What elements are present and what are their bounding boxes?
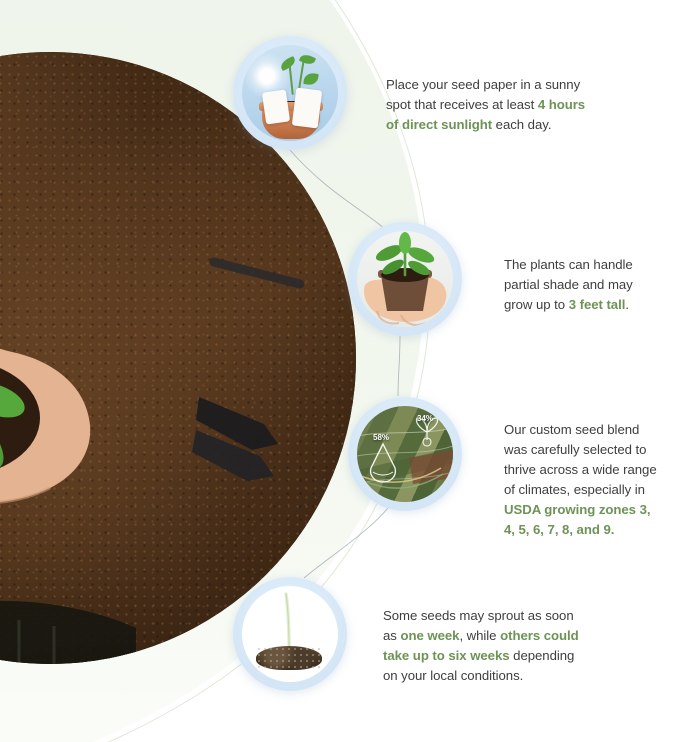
planting-guide-infographic: Planting guide Just be patient blooms ar… xyxy=(0,0,679,742)
aerial-farmland-climate-map-photo: 58% 34% xyxy=(357,406,453,502)
soil-mound xyxy=(256,646,322,670)
hud-moisture-percent: 58% xyxy=(373,433,389,442)
sprout-in-soil-white-background-photo xyxy=(242,586,338,682)
step-text-usda-zones: Our custom seed blend was carefully sele… xyxy=(504,420,664,540)
hands-holding-potted-seedling-photo xyxy=(357,231,453,327)
hero-title-line-2: guide xyxy=(0,251,48,290)
hud-growth-percent: 34% xyxy=(417,414,433,423)
tagline-line-1: Just xyxy=(0,548,48,571)
seed-paper-pot-sunlight-photo xyxy=(242,45,338,141)
step-icon-germination xyxy=(233,577,347,691)
seed-paper-card xyxy=(262,89,290,124)
step-text-sunlight: Place your seed paper in a sunny spot th… xyxy=(386,75,586,135)
seed-paper-card xyxy=(292,88,322,129)
tagline-line-3: blooms xyxy=(0,606,48,641)
step-icon-climate-zones: 58% 34% xyxy=(348,397,462,511)
tagline-line-2: be patient xyxy=(0,571,48,606)
tagline-line-4: are coming! xyxy=(0,641,48,662)
hero-tagline: Just be patient blooms are coming! xyxy=(0,548,48,662)
step-text-germination: Some seeds may sprout as soon as one wee… xyxy=(383,606,591,686)
step-icon-shade xyxy=(348,222,462,336)
step-text-shade: The plants can handle partial shade and … xyxy=(504,255,654,315)
hero-title: Planting guide xyxy=(0,212,48,291)
step-icon-sunlight xyxy=(233,36,347,150)
